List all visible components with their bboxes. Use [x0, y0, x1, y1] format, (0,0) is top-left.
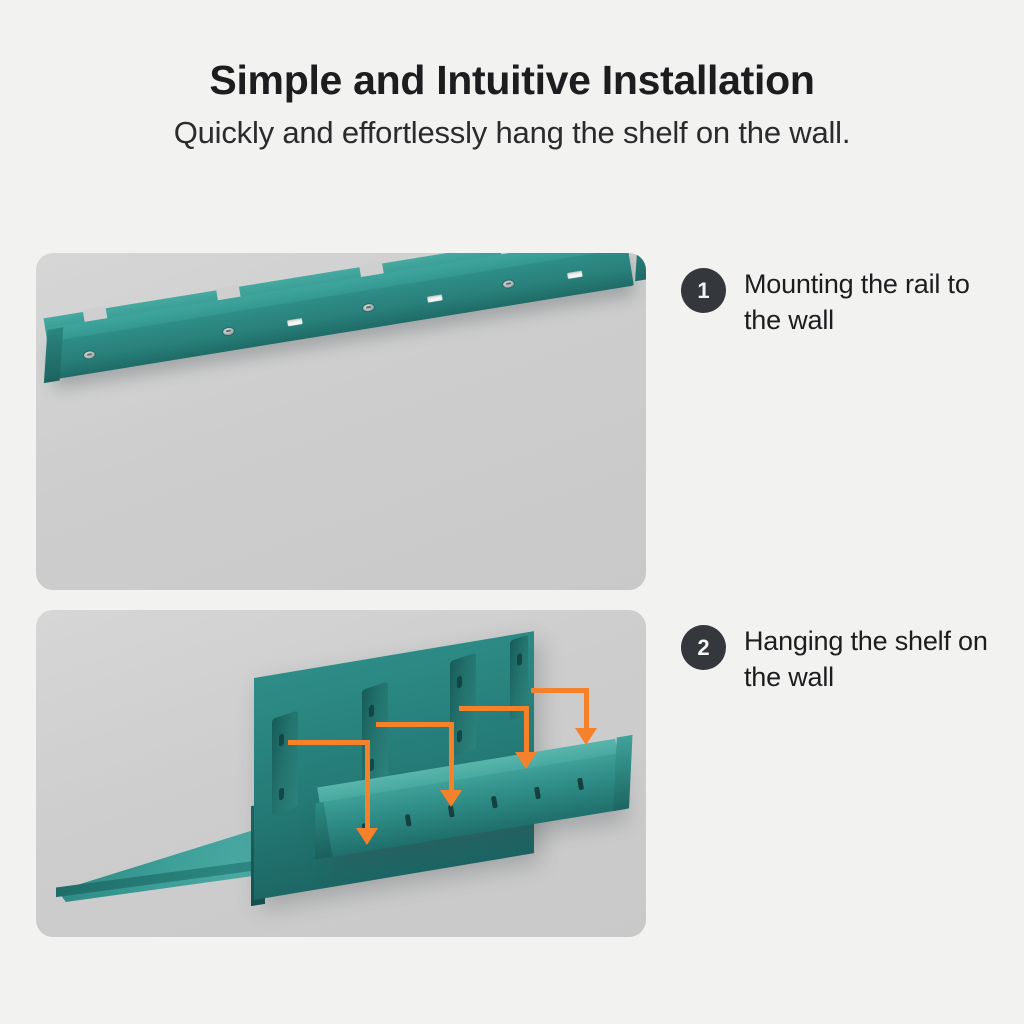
shelf-hanging-illustration — [36, 610, 646, 937]
keyhole-slot — [457, 729, 462, 743]
page-subtitle: Quickly and effortlessly hang the shelf … — [0, 114, 1024, 151]
rail-slot — [427, 294, 443, 302]
step-2-photo — [36, 610, 646, 937]
step-2-label: Hanging the shelf on the wall — [744, 624, 1002, 695]
arrow-head-icon — [575, 728, 597, 745]
step-1-photo — [36, 253, 646, 590]
rail-screw — [503, 280, 515, 289]
arrow-head-icon — [356, 828, 378, 845]
arrow-segment — [288, 740, 370, 745]
arrow-segment — [584, 688, 589, 730]
arrow-head-icon — [515, 752, 537, 769]
rail-slot — [287, 318, 303, 326]
rail-screw — [363, 303, 375, 312]
step-1-caption: 1 Mounting the rail to the wall — [681, 267, 1024, 338]
shelf-keyhole-tab — [272, 710, 298, 815]
rail-slot — [491, 796, 498, 809]
step-1-badge: 1 — [681, 268, 726, 313]
keyhole-slot — [279, 787, 284, 801]
arrow-segment — [524, 706, 529, 754]
rail-mounting-illustration — [36, 253, 646, 590]
arrow-segment — [376, 722, 454, 727]
arrow-segment — [459, 706, 529, 711]
rail-slot — [577, 778, 584, 791]
keyhole-slot — [369, 704, 374, 718]
step-1-label: Mounting the rail to the wall — [744, 267, 994, 338]
rail-slot — [567, 271, 583, 279]
arrow-head-icon — [440, 790, 462, 807]
rail-slot — [534, 787, 541, 800]
arrow-segment — [531, 688, 589, 693]
header: Simple and Intuitive Installation Quickl… — [0, 56, 1024, 152]
keyhole-slot — [517, 653, 522, 667]
wall-rail — [42, 253, 646, 534]
step-2-badge: 2 — [681, 625, 726, 670]
keyhole-slot — [457, 675, 462, 689]
rail-right-end — [635, 253, 646, 281]
mounted-rail-right-end — [613, 735, 632, 811]
arrow-segment — [449, 722, 454, 792]
infographic-page: Simple and Intuitive Installation Quickl… — [0, 0, 1024, 1024]
step-2-caption: 2 Hanging the shelf on the wall — [681, 624, 1024, 695]
keyhole-slot — [279, 733, 284, 747]
page-title: Simple and Intuitive Installation — [0, 56, 1024, 104]
rail-slot — [405, 814, 412, 827]
arrow-segment — [365, 740, 370, 830]
rail-screw — [223, 327, 235, 336]
rail-screw — [83, 351, 95, 360]
